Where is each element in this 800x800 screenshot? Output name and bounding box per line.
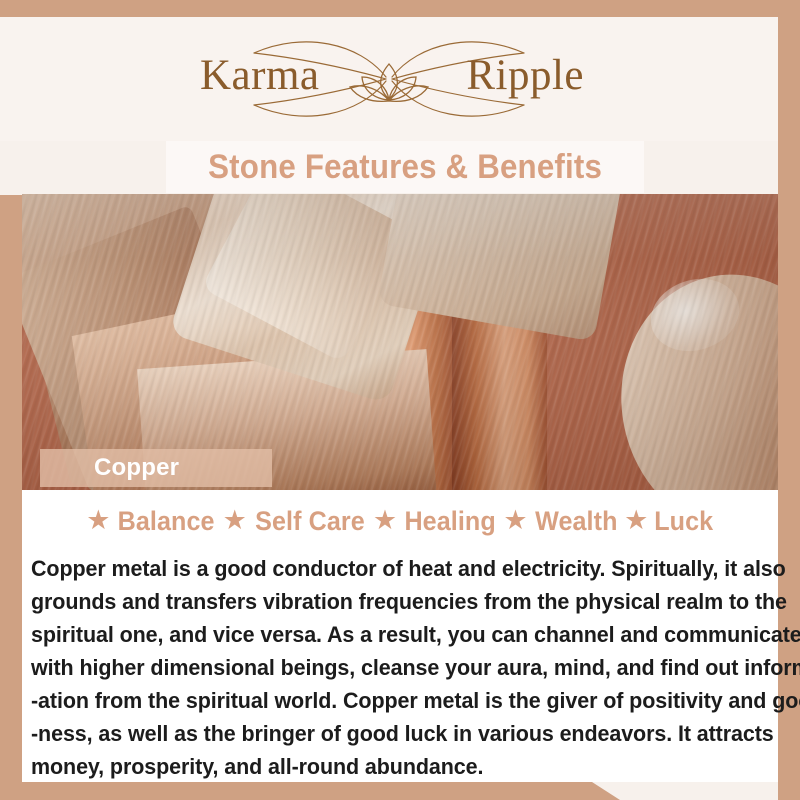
brand-name-second: Ripple	[466, 54, 584, 97]
page-title: Stone Features & Benefits	[208, 148, 602, 187]
header-bar: Karma Ripple	[0, 17, 778, 141]
keyword-wealth: Wealth	[535, 506, 617, 537]
frame-border-right	[778, 0, 800, 800]
description-line: with higher dimensional beings, cleanse …	[31, 651, 740, 684]
brand-name-first: Karma	[200, 54, 320, 97]
description-paragraph: Copper metal is a good conductor of heat…	[31, 552, 773, 783]
copper-bars-photo: Copper	[22, 194, 778, 490]
photo-caption-label: Copper	[94, 454, 179, 482]
poster-root: Karma Ripple Stone Features & Benefits C…	[0, 0, 800, 800]
keyword-self-care: Self Care	[255, 506, 365, 537]
star-icon: ★	[624, 507, 648, 534]
frame-border-left	[0, 195, 22, 783]
description-line: Copper metal is a good conductor of heat…	[31, 552, 740, 585]
keyword-luck: Luck	[655, 506, 714, 537]
brand-logo: Karma Ripple	[154, 33, 624, 125]
photo-vignette	[22, 194, 778, 490]
description-line: -ation from the spiritual world. Copper …	[31, 684, 740, 717]
keyword-balance: Balance	[118, 506, 215, 537]
description-line: money, prosperity, and all-round abundan…	[31, 750, 740, 783]
keyword-healing: Healing	[405, 506, 496, 537]
keyword-list: ★ Balance ★ Self Care ★ Healing ★ Wealth…	[22, 506, 778, 537]
description-line: -ness, as well as the bringer of good lu…	[31, 717, 740, 750]
frame-border-bottom	[0, 782, 620, 800]
content-panel: ★ Balance ★ Self Care ★ Healing ★ Wealth…	[22, 490, 778, 782]
star-icon: ★	[373, 507, 397, 534]
description-line: grounds and transfers vibration frequenc…	[31, 585, 740, 618]
photo-caption-band: Copper	[40, 449, 272, 487]
frame-border-top	[0, 0, 800, 17]
lotus-flower-icon	[350, 64, 428, 101]
star-icon: ★	[223, 507, 247, 534]
title-banner: Stone Features & Benefits	[166, 141, 644, 193]
star-icon: ★	[503, 507, 527, 534]
description-line: spiritual one, and vice versa. As a resu…	[31, 618, 740, 651]
star-icon: ★	[86, 507, 110, 534]
